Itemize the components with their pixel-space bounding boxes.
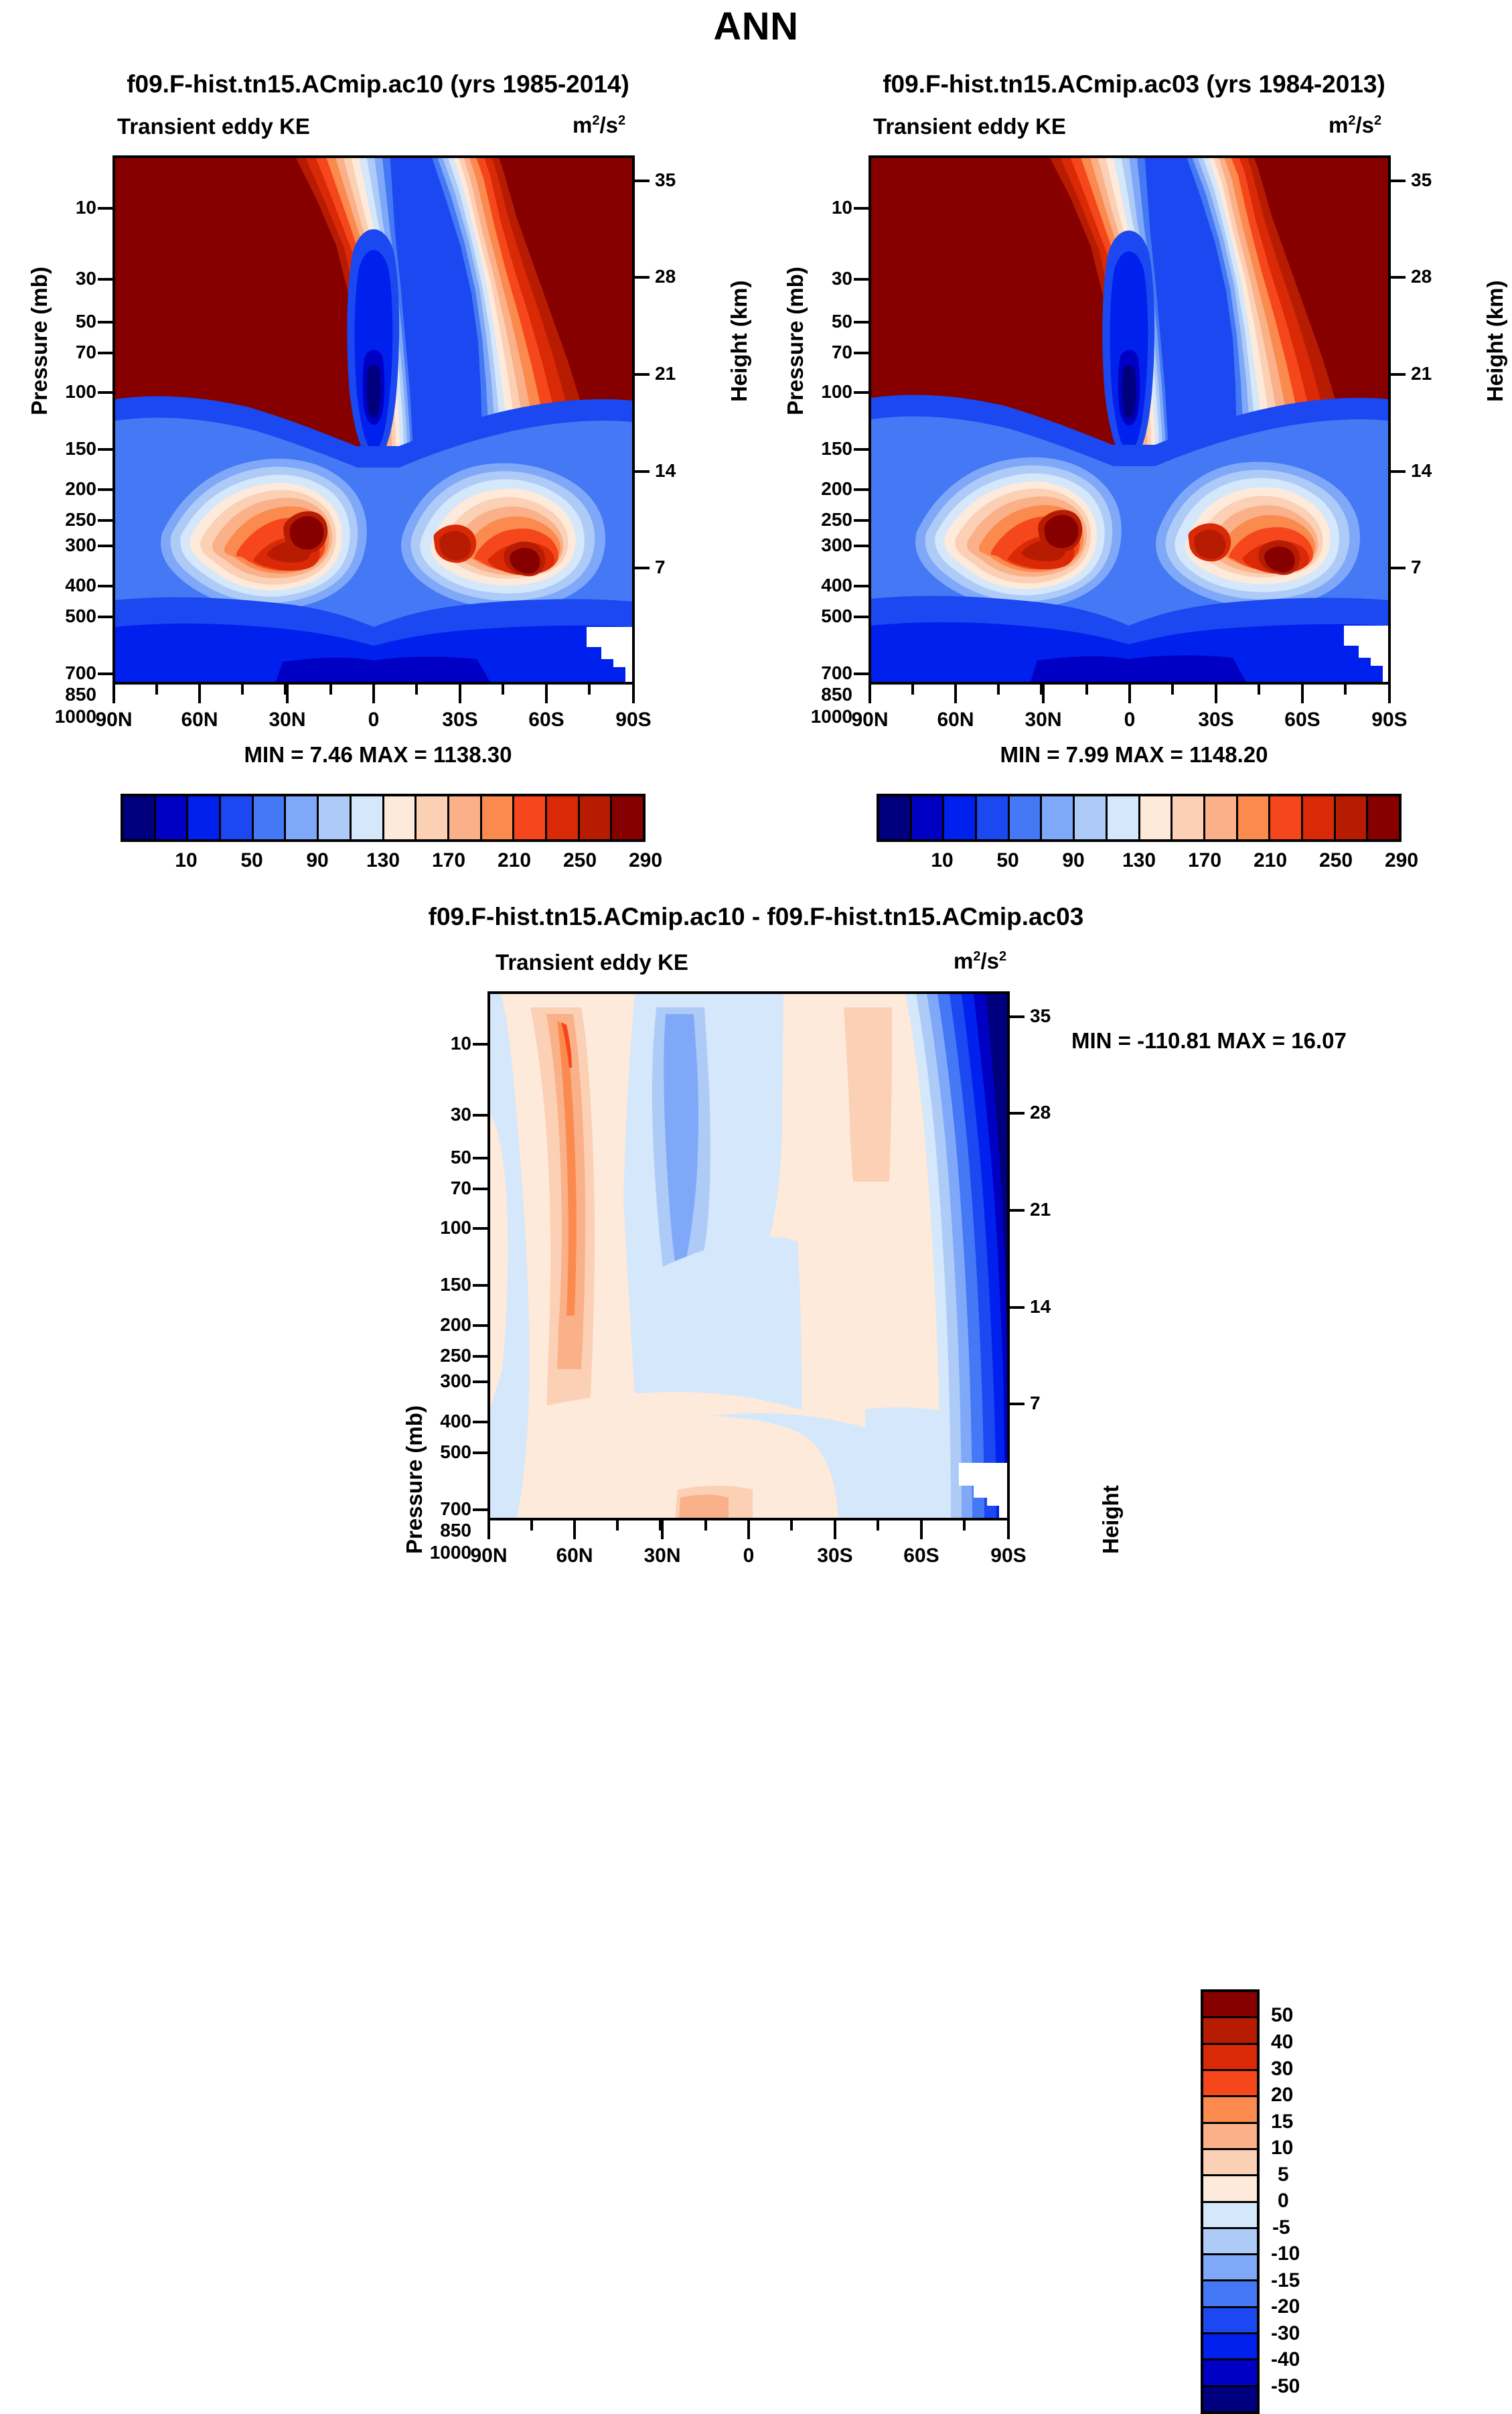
cbv-label-10: 10 [1271, 2137, 1293, 2159]
ytick-300: 300 [821, 535, 852, 556]
y2tick-28: 28 [1030, 1102, 1051, 1123]
unit-s-exp: 2 [1374, 113, 1381, 128]
y2tick-14: 14 [1411, 460, 1432, 482]
ytick-70: 70 [451, 1178, 471, 1199]
xtick-60S: 60S [1274, 709, 1331, 731]
panel-diff-colorbar-labels: 50 40 30 20 15 10 5 0 -5 -10 -15 -20 -30… [1271, 1989, 1345, 2414]
xtick-60S: 60S [893, 1545, 950, 1567]
ytick-30: 30 [451, 1104, 471, 1125]
ytick-30: 30 [832, 268, 852, 289]
cbv-label-neg30: -30 [1271, 2322, 1300, 2345]
cb-label-130: 130 [350, 849, 416, 872]
cbv-label-30: 30 [1271, 2058, 1293, 2080]
panel-diff-y2axis-ticks [1007, 991, 1025, 1520]
xtick-60N: 60N [546, 1545, 603, 1567]
ytick-150: 150 [65, 438, 96, 459]
xtick-0: 0 [721, 1545, 777, 1567]
ytick-400: 400 [65, 575, 96, 596]
panel-ac10-y2axis-title: Height (km) [727, 281, 752, 403]
panel-ac10-y2axis-ticklabels: 35 28 21 14 7 [655, 155, 702, 685]
xtick-90S: 90S [1361, 709, 1418, 731]
cbv-label-15: 15 [1271, 2111, 1293, 2133]
unit-m: m [573, 113, 592, 137]
panel-ac03-contour-field [871, 158, 1388, 682]
ytick-70: 70 [76, 342, 96, 363]
cbv-label-0: 0 [1278, 2190, 1289, 2212]
unit-s-exp: 2 [618, 113, 625, 128]
cb-label-50: 50 [975, 849, 1041, 872]
panel-ac03-xaxis-ticklabels: 90N 60N 30N 0 30S 60S 90S [868, 709, 1391, 735]
panel-ac03-variable-label: Transient eddy KE [873, 114, 1066, 139]
cb-label-130: 130 [1106, 849, 1172, 872]
panel-ac10-xaxis-ticks [112, 685, 635, 703]
panel-diff-colorbar [1201, 1989, 1260, 2414]
y2tick-7: 7 [655, 557, 666, 578]
ytick-250: 250 [65, 509, 96, 530]
ytick-500: 500 [440, 1441, 471, 1463]
y2tick-35: 35 [1411, 169, 1432, 191]
ytick-70: 70 [832, 342, 852, 363]
cb-label-290: 290 [1369, 849, 1434, 872]
ytick-150: 150 [821, 438, 852, 459]
ytick-100: 100 [65, 381, 96, 403]
panel-ac10-minmax: MIN = 7.46 MAX = 1138.30 [0, 742, 756, 768]
cbv-label-neg40: -40 [1271, 2348, 1300, 2371]
xtick-60N: 60N [171, 709, 228, 731]
y2tick-14: 14 [1030, 1296, 1051, 1318]
panel-ac03-y2axis-ticklabels: 35 28 21 14 7 [1411, 155, 1458, 685]
cb-label-90: 90 [285, 849, 350, 872]
panel-ac03-y2axis-title: Height (km) [1483, 281, 1508, 403]
ytick-700: 700 [65, 662, 96, 684]
panel-diff-y2axis-title: Height [1098, 1485, 1124, 1554]
panel-diff-title: f09.F-hist.tn15.ACmip.ac10 - f09.F-hist.… [0, 903, 1512, 931]
panel-ac03-yaxis-ticklabels: 10 30 50 70 100 150 200 250 300 400 500 … [796, 155, 852, 685]
ytick-10: 10 [76, 197, 96, 218]
ytick-700: 700 [821, 662, 852, 684]
panel-ac10-yaxis-ticklabels: 10 30 50 70 100 150 200 250 300 400 500 … [40, 155, 96, 685]
xtick-60S: 60S [518, 709, 575, 731]
cbv-label-5: 5 [1278, 2163, 1289, 2186]
figure-root: ANN f09.F-hist.tn15.ACmip.ac10 (yrs 1985… [0, 0, 1512, 1597]
xtick-30S: 30S [432, 709, 488, 731]
unit-m: m [954, 948, 973, 973]
ytick-300: 300 [65, 535, 96, 556]
ytick-50: 50 [832, 311, 852, 332]
cbv-label-neg50: -50 [1271, 2375, 1300, 2398]
y2tick-21: 21 [1030, 1199, 1051, 1220]
ytick-850: 850 [65, 684, 96, 705]
xtick-30N: 30N [634, 1545, 690, 1567]
y2tick-35: 35 [1030, 1005, 1051, 1027]
cb-label-210: 210 [481, 849, 547, 872]
panel-diff: f09.F-hist.tn15.ACmip.ac10 - f09.F-hist.… [0, 884, 1512, 1597]
ytick-200: 200 [821, 478, 852, 500]
panel-ac03-title: f09.F-hist.tn15.ACmip.ac03 (yrs 1984-201… [756, 70, 1512, 98]
ytick-850: 850 [440, 1520, 471, 1541]
panel-diff-contour-field [490, 994, 1007, 1518]
ytick-400: 400 [821, 575, 852, 596]
ytick-850: 850 [821, 684, 852, 705]
cb-label-290: 290 [613, 849, 678, 872]
panel-diff-variable-label: Transient eddy KE [496, 950, 688, 975]
ytick-200: 200 [440, 1314, 471, 1336]
ytick-400: 400 [440, 1411, 471, 1432]
xtick-90S: 90S [980, 1545, 1037, 1567]
ytick-250: 250 [440, 1345, 471, 1366]
unit-m: m [1329, 113, 1348, 137]
unit-m-exp: 2 [592, 113, 599, 128]
panel-diff-xaxis-ticklabels: 90N 60N 30N 0 30S 60S 90S [487, 1545, 1010, 1571]
panel-diff-units-label: m2/s2 [954, 948, 1006, 974]
unit-s-exp: 2 [999, 949, 1006, 964]
panel-ac10-colorbar [121, 794, 646, 842]
xtick-30N: 30N [1015, 709, 1071, 731]
cb-label-90: 90 [1041, 849, 1106, 872]
unit-s: s [987, 948, 999, 973]
panel-ac03: f09.F-hist.tn15.ACmip.ac03 (yrs 1984-201… [756, 0, 1512, 884]
panel-ac03-minmax: MIN = 7.99 MAX = 1148.20 [756, 742, 1512, 768]
panel-ac03-plot-area [868, 155, 1391, 685]
panel-ac10-xaxis-ticklabels: 90N 60N 30N 0 30S 60S 90S [112, 709, 635, 735]
panel-diff-y2axis-ticklabels: 35 28 21 14 7 [1030, 991, 1077, 1520]
xtick-90N: 90N [842, 709, 898, 731]
cbv-label-50: 50 [1271, 2004, 1293, 2027]
xtick-30N: 30N [259, 709, 315, 731]
cb-label-10: 10 [909, 849, 975, 872]
cb-label-250: 250 [1303, 849, 1369, 872]
unit-m-exp: 2 [1348, 113, 1355, 128]
panel-ac10-variable-label: Transient eddy KE [117, 114, 310, 139]
y2tick-7: 7 [1030, 1393, 1041, 1414]
panel-ac10-colorbar-labels: 10 50 90 130 170 210 250 290 [121, 849, 646, 876]
ytick-300: 300 [440, 1370, 471, 1392]
ytick-500: 500 [821, 606, 852, 627]
panel-ac10-title: f09.F-hist.tn15.ACmip.ac10 (yrs 1985-201… [0, 70, 756, 98]
ytick-10: 10 [832, 197, 852, 218]
panel-diff-xaxis-ticks [487, 1520, 1010, 1539]
ytick-10: 10 [451, 1033, 471, 1054]
y2tick-28: 28 [1411, 266, 1432, 287]
y2tick-7: 7 [1411, 557, 1422, 578]
panel-ac03-y2axis-ticks [1388, 155, 1406, 685]
cb-label-210: 210 [1237, 849, 1303, 872]
xtick-30S: 30S [807, 1545, 863, 1567]
unit-s: s [606, 113, 618, 137]
panel-ac10-contour-field [115, 158, 632, 682]
y2tick-28: 28 [655, 266, 676, 287]
xtick-90S: 90S [605, 709, 662, 731]
panel-ac03-colorbar-labels: 10 50 90 130 170 210 250 290 [877, 849, 1402, 876]
ytick-150: 150 [440, 1274, 471, 1295]
panel-ac10-plot-area [112, 155, 635, 685]
ytick-30: 30 [76, 268, 96, 289]
xtick-0: 0 [346, 709, 402, 731]
cb-label-170: 170 [416, 849, 481, 872]
unit-s: s [1362, 113, 1374, 137]
y2tick-35: 35 [655, 169, 676, 191]
ytick-200: 200 [65, 478, 96, 500]
cbv-label-neg10: -10 [1271, 2243, 1300, 2265]
panel-diff-yaxis-ticklabels: 10 30 50 70 100 150 200 250 300 400 500 … [415, 991, 471, 1520]
y2tick-14: 14 [655, 460, 676, 482]
panel-ac10-yaxis-ticks [98, 155, 115, 685]
panel-ac10-y2axis-ticks [632, 155, 650, 685]
ytick-500: 500 [65, 606, 96, 627]
panel-ac03-yaxis-ticks [854, 155, 871, 685]
panel-ac03-xaxis-ticks [868, 685, 1391, 703]
ytick-700: 700 [440, 1498, 471, 1520]
ytick-100: 100 [821, 381, 852, 403]
xtick-60N: 60N [927, 709, 984, 731]
y2tick-21: 21 [1411, 363, 1432, 384]
panel-ac03-units-label: m2/s2 [1329, 113, 1381, 138]
cb-label-170: 170 [1172, 849, 1237, 872]
panel-diff-minmax: MIN = -110.81 MAX = 16.07 [1071, 1028, 1347, 1054]
panel-ac10-units-label: m2/s2 [573, 113, 625, 138]
cbv-label-neg5: -5 [1272, 2216, 1290, 2239]
xtick-0: 0 [1102, 709, 1158, 731]
cbv-label-20: 20 [1271, 2084, 1293, 2107]
xtick-30S: 30S [1188, 709, 1244, 731]
ytick-50: 50 [76, 311, 96, 332]
y2tick-21: 21 [655, 363, 676, 384]
ytick-250: 250 [821, 509, 852, 530]
panel-ac03-colorbar [877, 794, 1402, 842]
panel-ac10: f09.F-hist.tn15.ACmip.ac10 (yrs 1985-201… [0, 0, 756, 884]
cb-label-250: 250 [547, 849, 613, 872]
panel-diff-yaxis-ticks [473, 991, 490, 1520]
cbv-label-neg15: -15 [1271, 2269, 1300, 2292]
cbv-label-40: 40 [1271, 2031, 1293, 2054]
cbv-label-neg20: -20 [1271, 2295, 1300, 2318]
panel-diff-plot-area [487, 991, 1010, 1520]
cb-label-10: 10 [153, 849, 219, 872]
xtick-90N: 90N [461, 1545, 517, 1567]
xtick-90N: 90N [86, 709, 142, 731]
cb-label-50: 50 [219, 849, 285, 872]
ytick-50: 50 [451, 1147, 471, 1168]
unit-m-exp: 2 [973, 949, 980, 964]
ytick-100: 100 [440, 1217, 471, 1238]
